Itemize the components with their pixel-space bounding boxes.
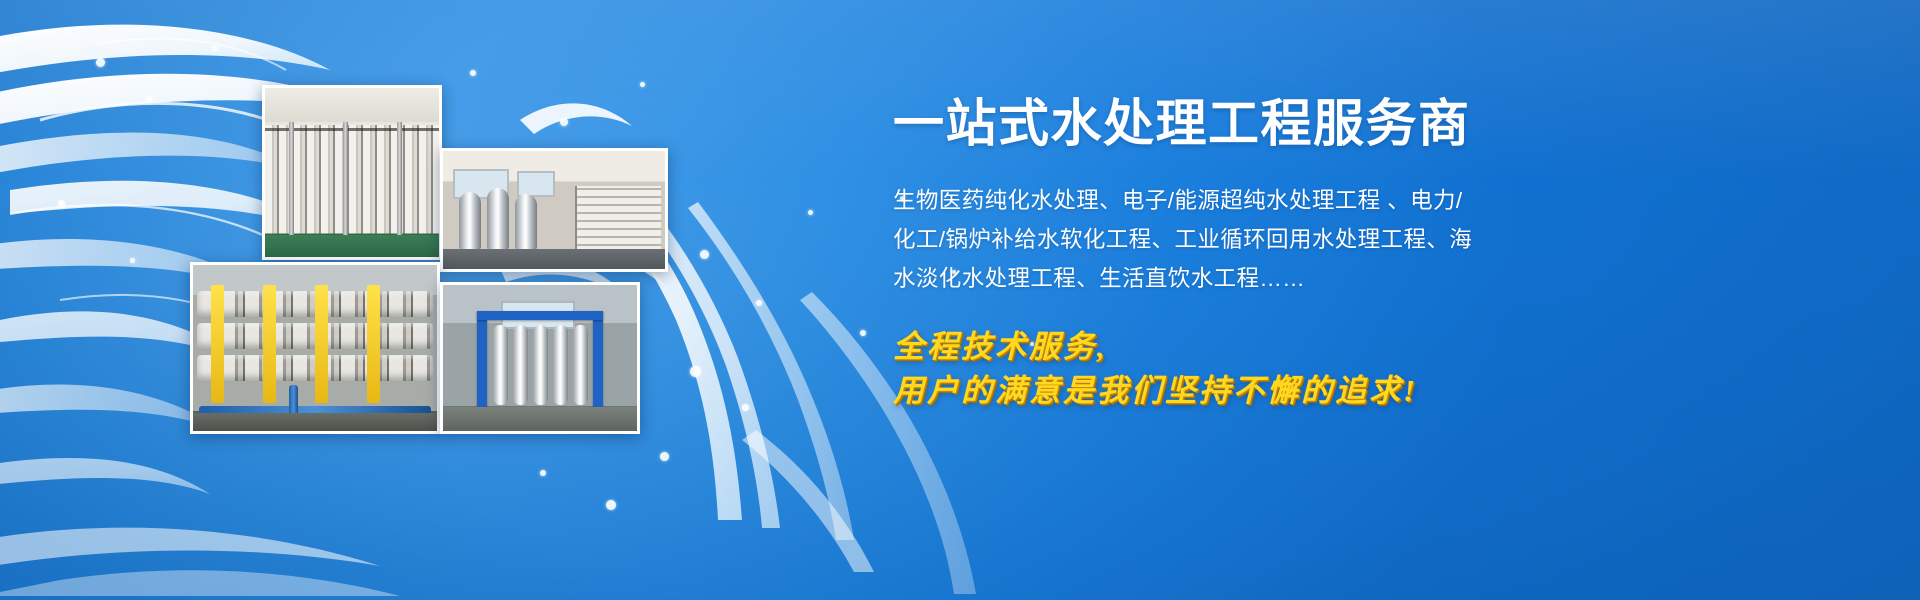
banner-headline: 一站式水处理工程服务商 — [893, 96, 1493, 151]
water-droplet — [860, 330, 866, 336]
water-droplet — [700, 250, 709, 259]
photo-yellow-pressure-vessel-array — [190, 262, 440, 434]
photo-ultrafiltration-membrane-skid-hall — [262, 85, 442, 260]
photo-blue-frame-ultrafiltration-unit — [440, 282, 640, 434]
banner-service-description: 生物医药纯化水处理、电子/能源超纯水处理工程 、电力/ 化工/锅炉补给水软化工程… — [893, 181, 1483, 298]
banner-copy-block: 一站式水处理工程服务商 生物医药纯化水处理、电子/能源超纯水处理工程 、电力/ … — [893, 96, 1493, 414]
photo-reverse-osmosis-tank-room — [440, 148, 668, 272]
service-description-line: 水淡化水处理工程、生活直饮水工程…… — [893, 259, 1483, 298]
water-droplet — [660, 452, 669, 461]
water-droplet — [808, 210, 813, 215]
water-droplet — [690, 366, 701, 377]
water-droplet — [470, 70, 476, 76]
service-description-line: 化工/锅炉补给水软化工程、工业循环回用水处理工程、海 — [893, 220, 1483, 259]
water-droplet — [130, 258, 135, 263]
water-droplet — [58, 200, 65, 207]
water-droplet — [146, 96, 152, 102]
water-treatment-hero-banner: 一站式水处理工程服务商 生物医药纯化水处理、电子/能源超纯水处理工程 、电力/ … — [0, 0, 1920, 600]
water-droplet — [640, 82, 645, 87]
banner-slogan: 全程技术服务, 用户的满意是我们坚持不懈的追求! — [893, 325, 1493, 414]
water-droplet — [96, 58, 105, 67]
water-droplet — [212, 46, 217, 51]
water-droplet — [756, 300, 762, 306]
water-droplet — [606, 500, 616, 510]
water-droplet — [540, 470, 546, 476]
slogan-line-1: 全程技术服务, — [893, 329, 1108, 364]
water-droplet — [560, 118, 568, 126]
service-description-line: 生物医药纯化水处理、电子/能源超纯水处理工程 、电力/ — [893, 181, 1483, 220]
slogan-line-2: 用户的满意是我们坚持不懈的追求! — [893, 369, 1493, 414]
water-droplet — [742, 404, 749, 411]
